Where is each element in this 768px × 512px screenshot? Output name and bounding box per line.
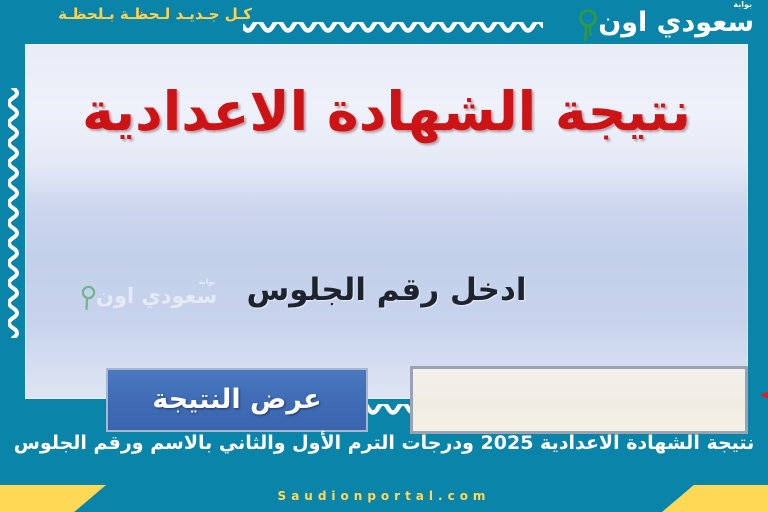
watermark-title: سعودي اون [96, 286, 217, 307]
page-title: نتيجة الشهادة الاعدادية [25, 80, 748, 143]
watermark-magnifier-icon [81, 285, 96, 311]
arrow-left-icon [760, 382, 768, 408]
site-logo-title: سعودي اون [598, 9, 754, 36]
magnifier-icon [578, 8, 598, 42]
content-panel: نتيجة الشهادة الاعدادية ادخل رقم الجلوس … [25, 44, 748, 399]
site-logo-text: بوابة سعودي اون [598, 0, 754, 36]
site-logo: بوابة سعودي اون [576, 0, 754, 42]
show-result-button[interactable]: عرض النتيجة [106, 368, 368, 432]
site-logo-subtitle: بوابة [733, 1, 752, 9]
logo-watermark: بوابة سعودي اون [80, 279, 217, 321]
watermark-subtitle: بوابة [199, 279, 215, 286]
caption-text: نتيجة الشهادة الاعدادية 2025 ودرجات التر… [0, 432, 768, 454]
site-url: Saudionportal.com [0, 489, 768, 503]
seat-number-input[interactable] [410, 366, 748, 434]
result-page-graphic: كـل جـديـد لـحظـة بـلحظـة بوابة سعودي او… [0, 0, 768, 512]
header-tagline: كـل جـديـد لـحظـة بـلحظـة [22, 2, 252, 26]
watermark-text: بوابة سعودي اون [96, 279, 217, 307]
